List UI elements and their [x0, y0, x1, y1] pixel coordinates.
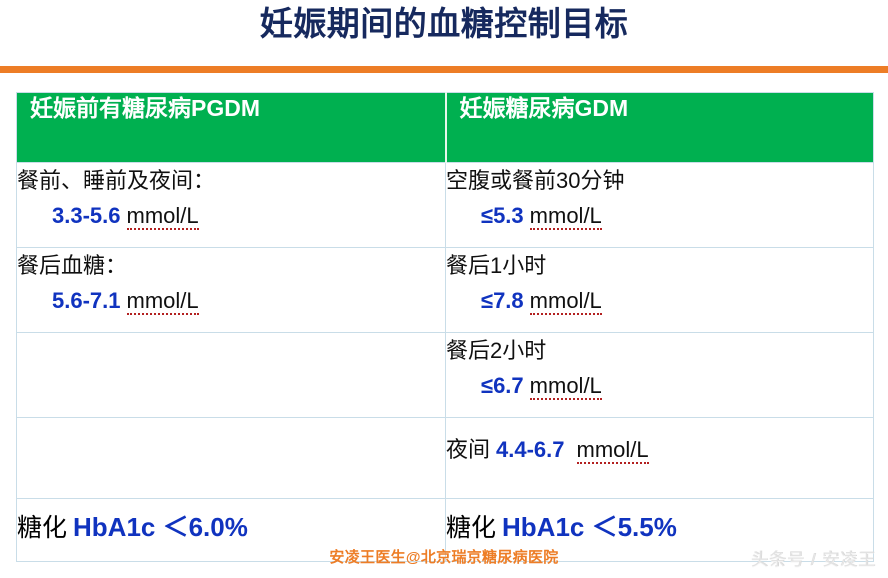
cell-pgdm-empty-1: [17, 333, 446, 418]
glucose-unit: mmol/L: [530, 203, 602, 230]
cell-label: 餐后2小时: [446, 333, 873, 368]
table-row: 夜间4.4-6.7mmol/L: [17, 418, 874, 499]
glucose-unit: mmol/L: [530, 288, 602, 315]
cell-label: 糖化: [17, 514, 67, 542]
cell-label: 糖化: [446, 514, 496, 542]
cell-value-line: ≤6.7mmol/L: [446, 368, 873, 403]
cell-pgdm-postmeal: 餐后血糖： 5.6-7.1mmol/L: [17, 248, 446, 333]
column-header-gdm: 妊娠糖尿病GDM: [446, 93, 874, 163]
table-row: 餐后2小时 ≤6.7mmol/L: [17, 333, 874, 418]
glucose-value: ≤7.8: [481, 288, 524, 313]
cell-value-line: ≤7.8mmol/L: [446, 283, 873, 318]
cell-value-line: ≤5.3mmol/L: [446, 198, 873, 233]
cell-value-line: 糖化HbA1c ＜6.0%: [17, 507, 445, 548]
cell-label: 夜间: [446, 437, 490, 462]
glucose-unit: mmol/L: [577, 437, 649, 464]
glucose-value: 4.4-6.7: [496, 437, 565, 462]
cell-label: 餐后1小时: [446, 248, 873, 283]
orange-divider: [0, 66, 888, 73]
cell-value-line: 夜间4.4-6.7mmol/L: [446, 432, 873, 467]
table-row: 餐前、睡前及夜间： 3.3-5.6mmol/L 空腹或餐前30分钟 ≤5.3mm…: [17, 163, 874, 248]
glucose-unit: mmol/L: [127, 203, 199, 230]
cell-gdm-fasting: 空腹或餐前30分钟 ≤5.3mmol/L: [446, 163, 874, 248]
cell-label: 餐后血糖：: [17, 248, 445, 283]
cell-gdm-nighttime: 夜间4.4-6.7mmol/L: [446, 418, 874, 499]
glucose-value: ≤5.3: [481, 203, 524, 228]
cell-gdm-2h-postmeal: 餐后2小时 ≤6.7mmol/L: [446, 333, 874, 418]
watermark-label: 头条号 / 安凌王: [751, 545, 876, 570]
hba1c-value: HbA1c ＜5.5%: [502, 512, 677, 542]
glucose-unit: mmol/L: [127, 288, 199, 315]
cell-value-line: 5.6-7.1mmol/L: [17, 283, 445, 318]
cell-pgdm-empty-2: [17, 418, 446, 499]
column-header-gdm-label: 妊娠糖尿病GDM: [447, 93, 874, 123]
cell-label: 餐前、睡前及夜间：: [17, 163, 445, 198]
blood-glucose-target-table: 妊娠前有糖尿病PGDM 妊娠糖尿病GDM 餐前、睡前及夜间： 3.3-5.6mm…: [16, 92, 874, 562]
cell-pgdm-premeal: 餐前、睡前及夜间： 3.3-5.6mmol/L: [17, 163, 446, 248]
cell-label: 空腹或餐前30分钟: [446, 163, 873, 198]
cell-gdm-1h-postmeal: 餐后1小时 ≤7.8mmol/L: [446, 248, 874, 333]
glucose-value: 5.6-7.1: [52, 288, 121, 313]
column-header-pgdm: 妊娠前有糖尿病PGDM: [17, 93, 446, 163]
table-row: 餐后血糖： 5.6-7.1mmol/L 餐后1小时 ≤7.8mmol/L: [17, 248, 874, 333]
hba1c-value: HbA1c ＜6.0%: [73, 512, 248, 542]
glucose-unit: mmol/L: [530, 373, 602, 400]
cell-value-line: 糖化HbA1c ＜5.5%: [446, 507, 873, 548]
table-header-row: 妊娠前有糖尿病PGDM 妊娠糖尿病GDM: [17, 93, 874, 163]
cell-value-line: 3.3-5.6mmol/L: [17, 198, 445, 233]
page-title: 妊娠期间的血糖控制目标: [0, 2, 888, 46]
column-header-pgdm-label: 妊娠前有糖尿病PGDM: [17, 93, 445, 123]
glucose-value: ≤6.7: [481, 373, 524, 398]
glucose-value: 3.3-5.6: [52, 203, 121, 228]
